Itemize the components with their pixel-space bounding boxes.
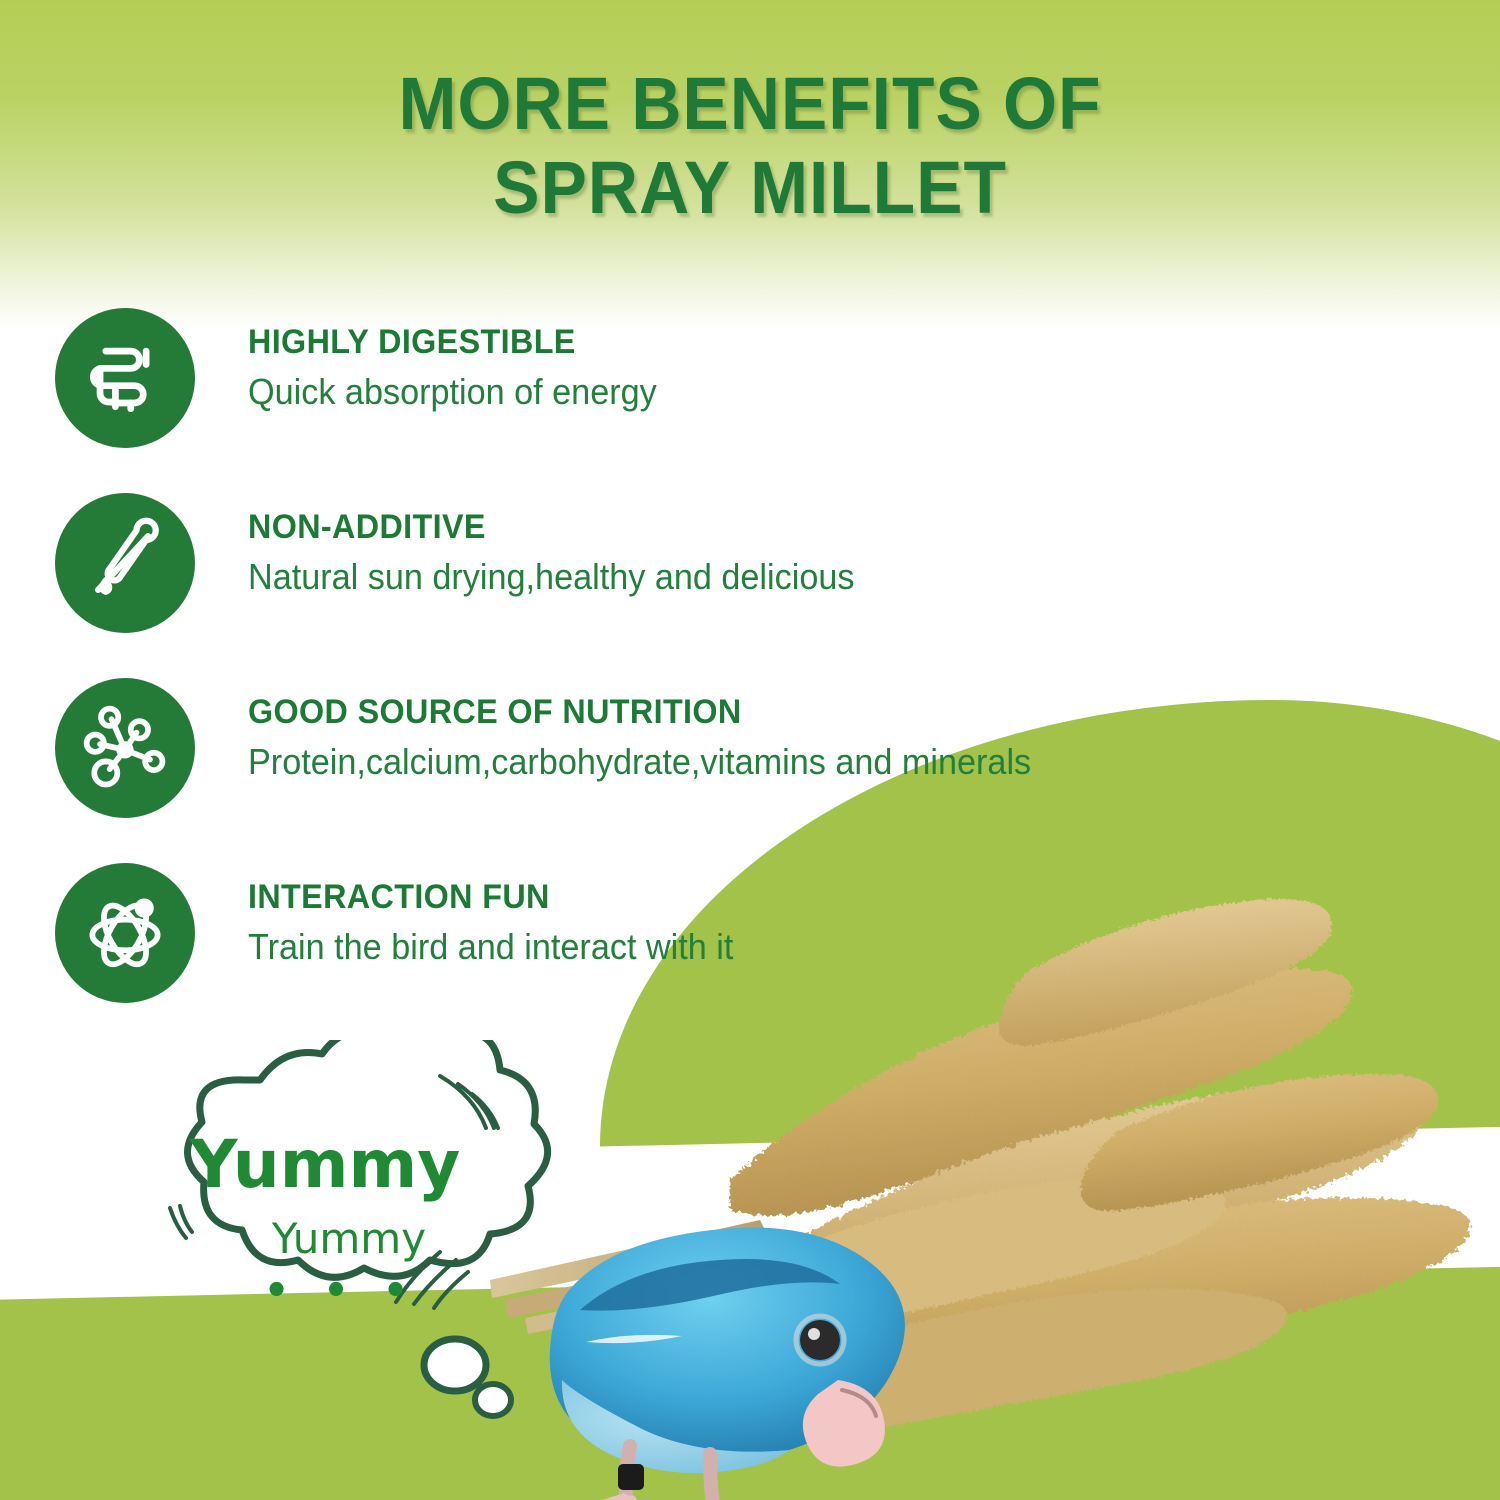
benefit-subtitle: Quick absorption of energy bbox=[248, 368, 657, 416]
thought-bubble: Yummy Yummy • • • bbox=[140, 1040, 560, 1370]
benefit-text-non-additive: NON-ADDITIVE Natural sun drying,healthy … bbox=[248, 505, 886, 601]
benefit-heading: NON-ADDITIVE bbox=[248, 505, 854, 549]
atom-interaction-icon bbox=[55, 863, 195, 1003]
no-additive-dropper-icon bbox=[55, 493, 195, 633]
infographic-canvas: MORE BENEFITS OF SPRAY MILLET HIGHLY DIG… bbox=[0, 0, 1500, 1500]
benefit-text-digestible: HIGHLY DIGESTIBLE Quick absorption of en… bbox=[248, 320, 678, 416]
blue-parrotlet-bird bbox=[550, 1228, 905, 1500]
benefit-subtitle: Natural sun drying,healthy and delicious bbox=[248, 553, 854, 601]
intestine-icon bbox=[55, 308, 195, 448]
molecule-nutrition-icon bbox=[55, 678, 195, 818]
thought-bubble-small-2 bbox=[465, 1372, 521, 1433]
benefit-heading: HIGHLY DIGESTIBLE bbox=[248, 320, 657, 364]
benefit-row-digestible: HIGHLY DIGESTIBLE Quick absorption of en… bbox=[0, 300, 1180, 485]
page-title: MORE BENEFITS OF SPRAY MILLET bbox=[45, 62, 1455, 230]
title-line-2: SPRAY MILLET bbox=[45, 146, 1455, 230]
product-photo-millet-and-bird bbox=[430, 700, 1500, 1500]
title-line-1: MORE BENEFITS OF bbox=[399, 62, 1102, 145]
benefit-row-non-additive: NON-ADDITIVE Natural sun drying,healthy … bbox=[0, 485, 1180, 670]
